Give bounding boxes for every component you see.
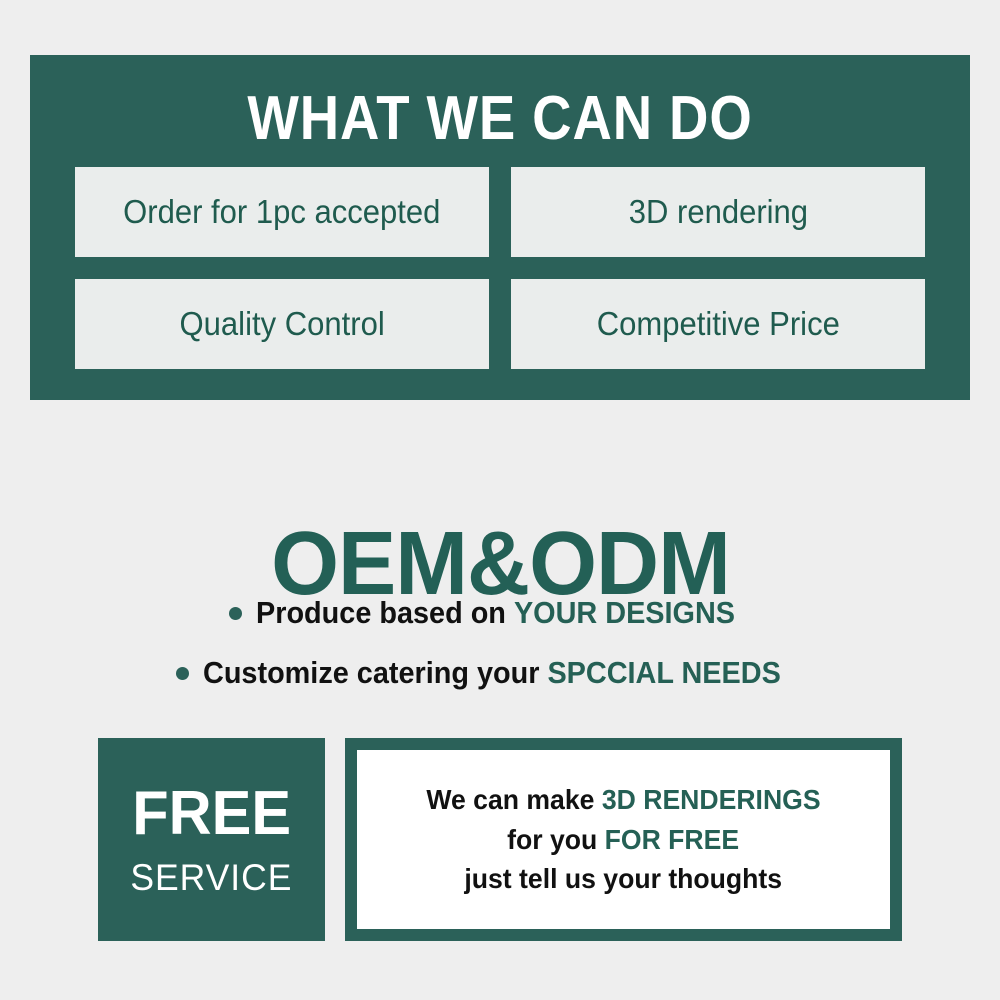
capabilities-title: WHAT WE CAN DO bbox=[86, 88, 913, 150]
promo-line-3: just tell us your thoughts bbox=[465, 859, 783, 899]
promo-line-2-lead: for you bbox=[507, 824, 597, 855]
oem-bullet-list: Produce based on YOUR DESIGNS Customize … bbox=[0, 583, 1000, 703]
promo-line-2: for you FOR FREE bbox=[507, 820, 739, 860]
bullet-lead: Customize catering your bbox=[203, 655, 539, 690]
capabilities-title-text: WHAT WE CAN DO bbox=[247, 84, 752, 153]
capability-card-label: Quality Control bbox=[179, 305, 384, 343]
capabilities-panel: WHAT WE CAN DO Order for 1pc accepted 3D… bbox=[30, 55, 970, 400]
promo-line-1-highlight: 3D RENDERINGS bbox=[602, 784, 821, 815]
promo-line-1-lead: We can make bbox=[426, 784, 594, 815]
rendering-promo-panel: We can make 3D RENDERINGS for you FOR FR… bbox=[345, 738, 902, 941]
bullet-lead: Produce based on bbox=[256, 595, 506, 630]
promo-infographic: WHAT WE CAN DO Order for 1pc accepted 3D… bbox=[0, 0, 1000, 1000]
list-item: Produce based on YOUR DESIGNS bbox=[0, 583, 1000, 643]
free-service-badge-bottom: SERVICE bbox=[130, 859, 292, 896]
capabilities-grid: Order for 1pc accepted 3D rendering Qual… bbox=[75, 167, 925, 369]
free-service-badge-top: FREE bbox=[132, 783, 291, 845]
bullet-dot-icon bbox=[229, 607, 242, 620]
capability-card-label: 3D rendering bbox=[628, 193, 807, 231]
list-item: Customize catering your SPCCIAL NEEDS bbox=[0, 643, 1000, 703]
bullet-dot-icon bbox=[176, 667, 189, 680]
capability-card-quality-control[interactable]: Quality Control bbox=[75, 279, 489, 369]
bullet-text: Customize catering your SPCCIAL NEEDS bbox=[203, 655, 781, 691]
bullet-highlight: YOUR DESIGNS bbox=[514, 595, 735, 630]
capability-card-label: Competitive Price bbox=[596, 305, 839, 343]
promo-line-1: We can make 3D RENDERINGS bbox=[426, 780, 820, 820]
capability-card-competitive-price[interactable]: Competitive Price bbox=[511, 279, 925, 369]
promo-line-2-highlight: FOR FREE bbox=[605, 824, 739, 855]
capability-card-label: Order for 1pc accepted bbox=[123, 193, 440, 231]
bullet-highlight: SPCCIAL NEEDS bbox=[547, 655, 780, 690]
free-service-badge: FREE SERVICE bbox=[98, 738, 325, 941]
bullet-text: Produce based on YOUR DESIGNS bbox=[256, 595, 735, 631]
capability-card-3d-rendering[interactable]: 3D rendering bbox=[511, 167, 925, 257]
capability-card-order-1pc[interactable]: Order for 1pc accepted bbox=[75, 167, 489, 257]
